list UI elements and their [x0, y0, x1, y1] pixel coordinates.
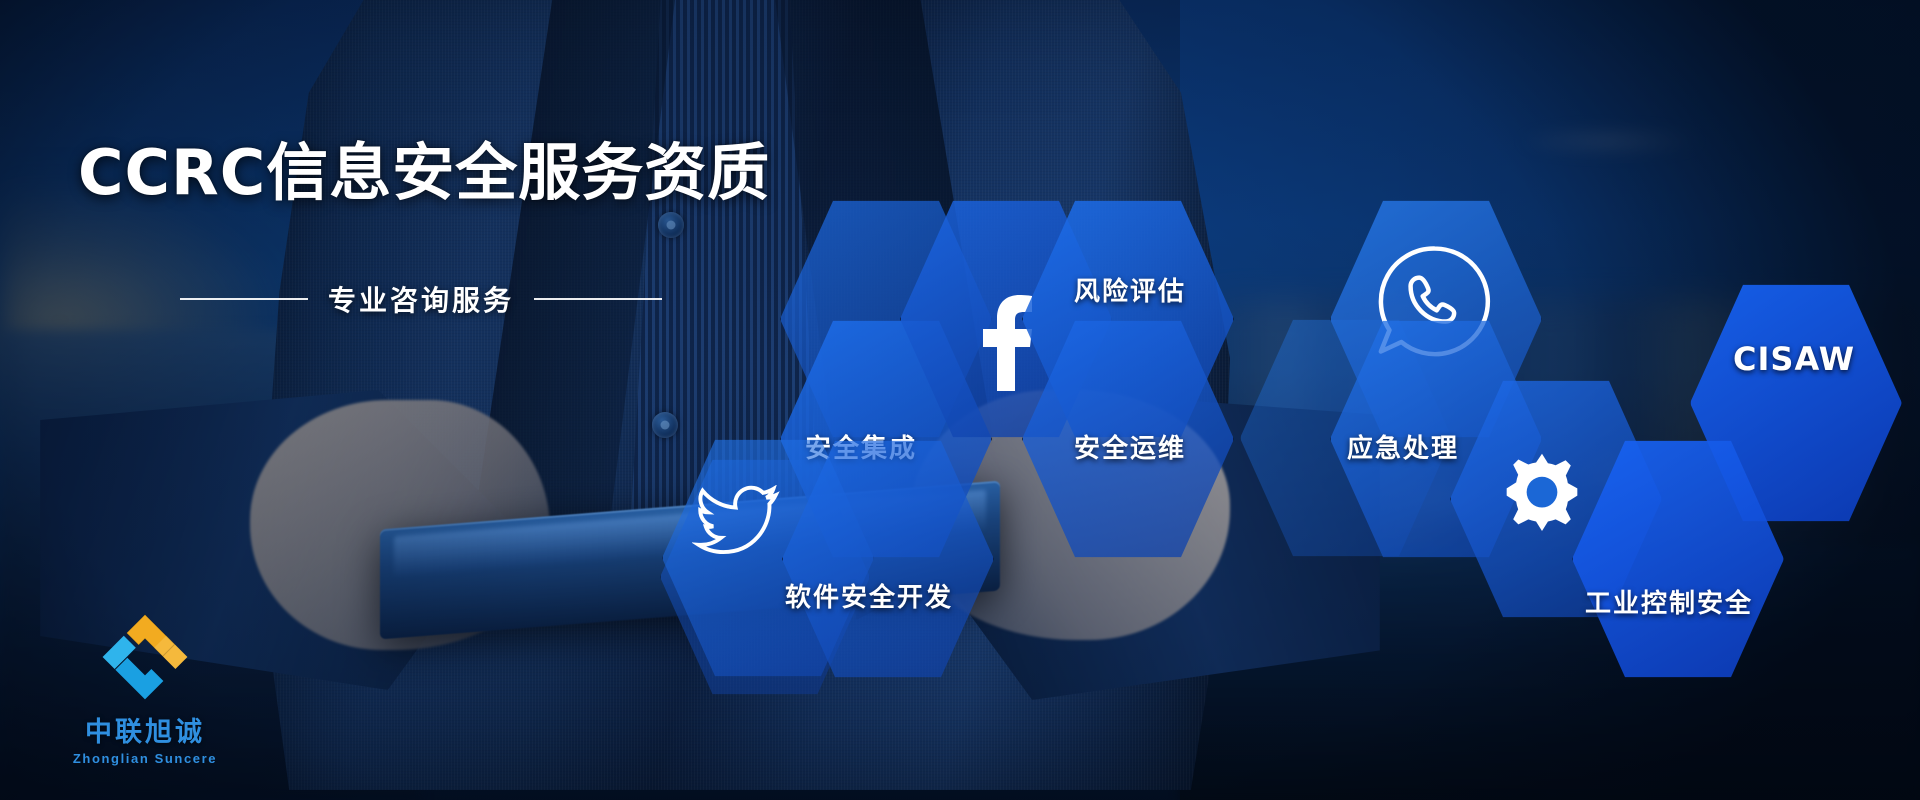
hex-label-emergency-response: 应急处理	[1347, 428, 1459, 465]
page-title: CCRC信息安全服务资质	[78, 122, 770, 212]
subtitle-rule-right	[534, 298, 662, 300]
logo-name-en: Zhonglian Suncere	[60, 751, 230, 766]
subtitle-text: 专业咨询服务	[328, 279, 514, 319]
hex-label-industrial-control-security: 工业控制安全	[1585, 583, 1753, 620]
subtitle-rule-left	[180, 298, 308, 300]
company-logo[interactable]: 中联旭诚 Zhonglian Suncere	[60, 610, 230, 766]
logo-mark-icon	[91, 610, 199, 704]
hex-label-security-operations: 安全运维	[1074, 428, 1186, 465]
hex-label-risk-assessment: 风险评估	[1074, 271, 1186, 308]
banner-stage: 安全集成 软件安全开发 风险评估 安全运维 应急处理 CISAW	[0, 0, 1920, 800]
subtitle-group: 专业咨询服务	[180, 279, 662, 319]
logo-name-cn: 中联旭诚	[60, 710, 230, 749]
hex-label-software-security-dev: 软件安全开发	[785, 577, 953, 614]
hexagon-network: 安全集成 软件安全开发 风险评估 安全运维 应急处理 CISAW	[0, 0, 1920, 800]
hex-label-cisaw: CISAW	[1733, 340, 1855, 378]
